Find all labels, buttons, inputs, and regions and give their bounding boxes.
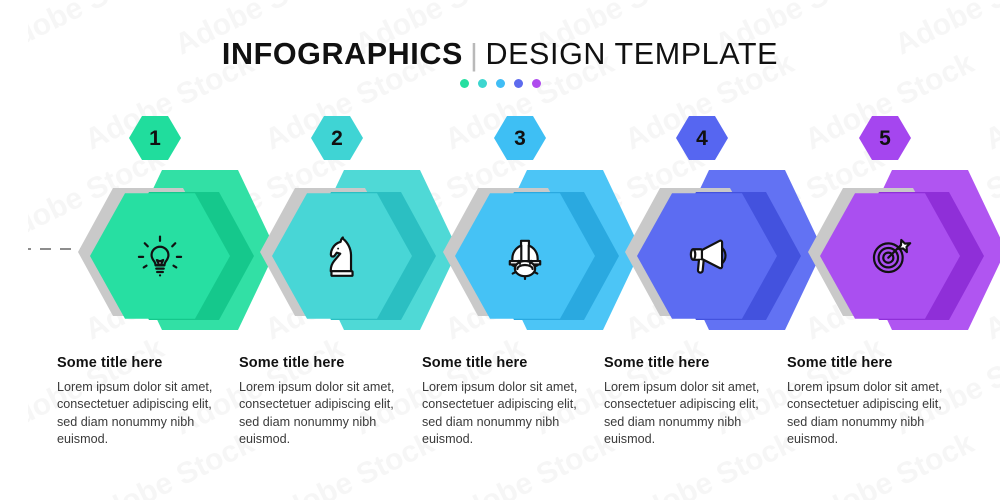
step-title: Some title here (57, 355, 240, 371)
hardhat-gear-icon (498, 229, 552, 283)
step-text-block: Some title here Lorem ipsum dolor sit am… (55, 355, 240, 449)
accent-dot-3 (496, 79, 505, 88)
step-number-badge: 4 (676, 116, 728, 160)
watermark-rail: Adobe Stock | #1840146641 (0, 0, 28, 500)
infographic-canvas: Adobe StockAdobe StockAdobe StockAdobe S… (0, 0, 1000, 500)
accent-dot-2 (478, 79, 487, 88)
step-title: Some title here (787, 355, 970, 371)
step-description: Lorem ipsum dolor sit amet, consectetuer… (604, 379, 764, 449)
target-arrow-icon (863, 229, 917, 283)
step-text-block: Some title here Lorem ipsum dolor sit am… (602, 355, 787, 449)
step-title: Some title here (604, 355, 787, 371)
title-separator: | (470, 38, 479, 73)
step-description: Lorem ipsum dolor sit amet, consectetuer… (422, 379, 582, 449)
accent-dot-1 (460, 79, 469, 88)
step-number: 5 (879, 128, 891, 149)
step-number: 1 (149, 128, 161, 149)
title-strong: INFOGRAPHICS (222, 37, 463, 71)
accent-dots (0, 79, 1000, 88)
step-number: 4 (696, 128, 708, 149)
step-description: Lorem ipsum dolor sit amet, consectetuer… (239, 379, 399, 449)
step-number-badge: 3 (494, 116, 546, 160)
step-text-block: Some title here Lorem ipsum dolor sit am… (785, 355, 970, 449)
accent-dot-5 (532, 79, 541, 88)
step-description: Lorem ipsum dolor sit amet, consectetuer… (57, 379, 217, 449)
step-number-badge: 5 (859, 116, 911, 160)
step-text-block: Some title here Lorem ipsum dolor sit am… (237, 355, 422, 449)
step-number-badge: 2 (311, 116, 363, 160)
step-hexagon-cluster[interactable] (808, 170, 1000, 330)
step-number-badge: 1 (129, 116, 181, 160)
step-text-block: Some title here Lorem ipsum dolor sit am… (420, 355, 605, 449)
header: INFOGRAPHICS|DESIGN TEMPLATE (0, 37, 1000, 88)
lightbulb-icon (133, 229, 187, 283)
chess-knight-icon (315, 229, 369, 283)
step-title: Some title here (422, 355, 605, 371)
step-number: 3 (514, 128, 526, 149)
step-number: 2 (331, 128, 343, 149)
accent-dot-4 (514, 79, 523, 88)
page-title: INFOGRAPHICS|DESIGN TEMPLATE (0, 37, 1000, 72)
title-light: DESIGN TEMPLATE (485, 37, 778, 71)
megaphone-icon (680, 229, 734, 283)
step-title: Some title here (239, 355, 422, 371)
step-description: Lorem ipsum dolor sit amet, consectetuer… (787, 379, 947, 449)
